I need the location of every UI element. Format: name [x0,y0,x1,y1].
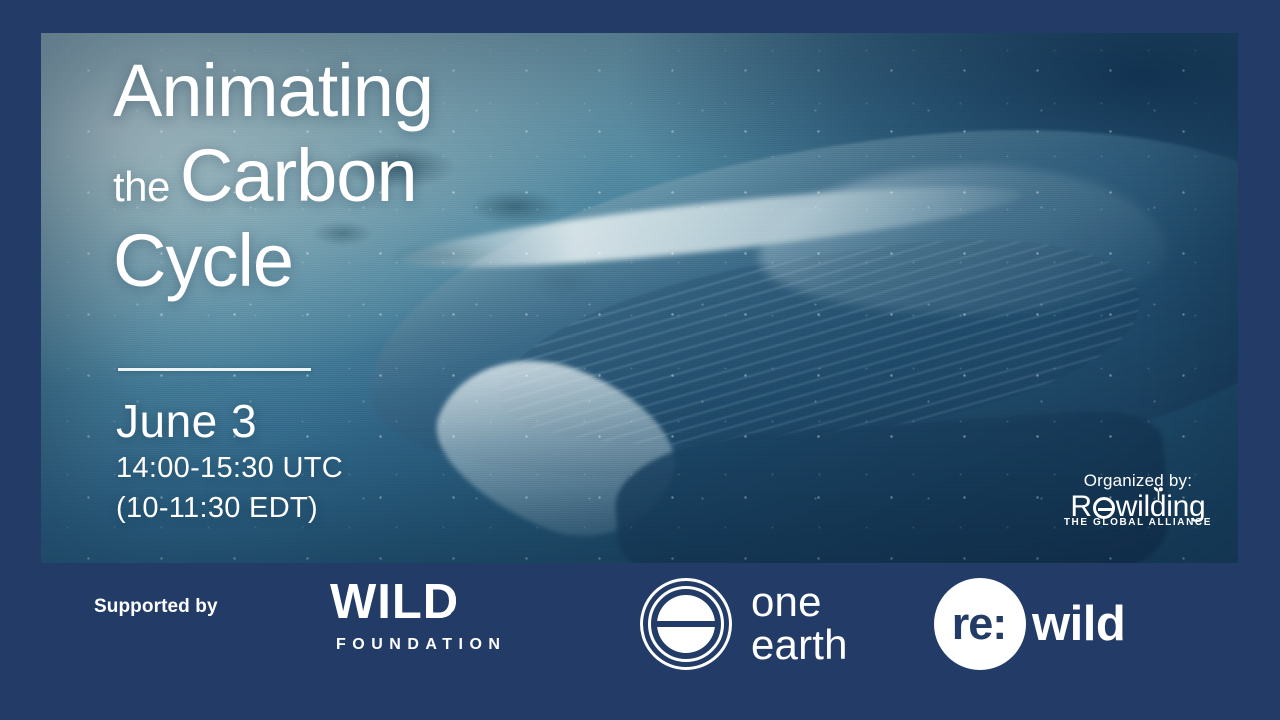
rewilding-logo[interactable]: Rwilding THE GLOBAL ALLIANCE [1064,492,1212,528]
event-date: June 3 [116,395,343,448]
sprout-icon [1152,487,1165,500]
title-divider-rule [118,368,311,371]
rewilding-letter-r: R [1070,490,1091,523]
one-earth-icon [640,578,732,670]
organized-by-block: Organized by: Rwilding THE GLOBAL ALLIAN… [1064,471,1212,530]
re-wild-logo[interactable]: re: wild [934,578,1125,670]
supported-by-label: Supported by [94,596,218,618]
title-line-animating: Animating [113,55,433,126]
event-time-edt: (10-11:30 EDT) [116,488,343,528]
wild-foundation-subtitle: FOUNDATION [330,636,506,654]
event-datetime: June 3 14:00-15:30 UTC (10-11:30 EDT) [116,395,343,528]
title-line-the-carbon: theCarbon [113,140,433,211]
globe-e-icon [1093,497,1115,519]
wild-wordmark: WILD [330,578,459,627]
re-wild-wordmark: wild [1032,596,1125,652]
one-earth-wordmark: one earth [751,581,848,667]
wild-foundation-logo[interactable]: WILD FOUNDATION [330,578,506,654]
leaf-branch-icon [448,584,482,618]
title-word-carbon: Carbon [180,134,417,217]
title-word-the: the [113,163,170,210]
title-line-cycle: Cycle [113,225,433,296]
re-colon-mark: re: [934,578,1026,670]
one-earth-line-one: one [751,581,848,624]
one-earth-line-earth: earth [751,624,848,667]
organized-by-label: Organized by: [1064,471,1212,491]
event-title: Animating theCarbon Cycle [113,55,433,296]
one-earth-logo[interactable]: one earth [640,578,848,670]
event-time-utc: 14:00-15:30 UTC [116,448,343,488]
horizon-bar [657,621,715,627]
rewilding-wordmark: Rwilding [1070,492,1205,522]
